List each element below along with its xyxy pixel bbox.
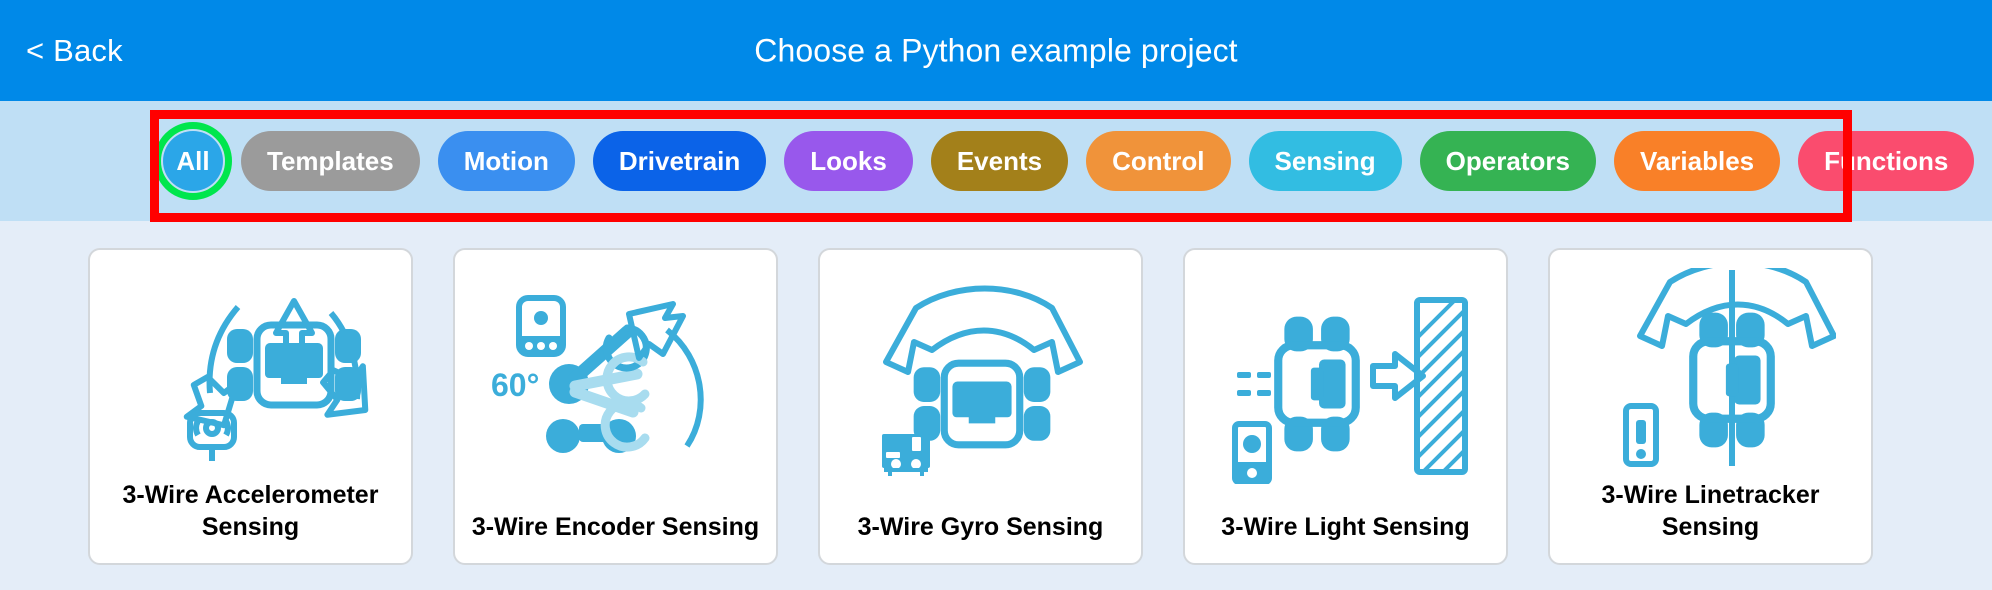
category-pill-label: Control <box>1112 146 1204 177</box>
category-pill-operators[interactable]: Operators <box>1420 131 1596 191</box>
category-pill-variables[interactable]: Variables <box>1614 131 1780 191</box>
category-pill-label: Operators <box>1446 146 1570 177</box>
category-pill-motion[interactable]: Motion <box>438 131 575 191</box>
project-card-title: 3-Wire Light Sensing <box>1185 511 1506 563</box>
category-pill-label: Sensing <box>1275 146 1376 177</box>
accelerometer-robot-icon <box>90 250 411 479</box>
light-sensor-robot-icon <box>1185 250 1506 511</box>
project-card-title: 3-Wire Accelerometer Sensing <box>90 479 411 563</box>
project-card[interactable]: 3-Wire Gyro Sensing <box>818 248 1143 565</box>
category-pill-sensing[interactable]: Sensing <box>1249 131 1402 191</box>
category-pill-label: Looks <box>810 146 887 177</box>
category-pill-label: Templates <box>267 146 394 177</box>
project-card-title: 3-Wire Gyro Sensing <box>820 511 1141 563</box>
category-pill-drivetrain[interactable]: Drivetrain <box>593 131 766 191</box>
app-header: < Back Choose a Python example project <box>0 0 1992 101</box>
category-pill-all[interactable]: All <box>163 131 223 191</box>
encoder-arm-icon: 60° <box>455 250 776 511</box>
category-pill-looks[interactable]: Looks <box>784 131 913 191</box>
project-card[interactable]: 3-Wire Linetracker Sensing <box>1548 248 1873 565</box>
encoder-angle-label: 60° <box>491 367 539 403</box>
project-grid-area: 3-Wire Accelerometer Sensing 60° <box>0 221 1992 590</box>
category-pill-label: Events <box>957 146 1042 177</box>
project-card-title: 3-Wire Encoder Sensing <box>455 511 776 563</box>
project-card[interactable]: 3-Wire Accelerometer Sensing <box>88 248 413 565</box>
category-pill-events[interactable]: Events <box>931 131 1068 191</box>
category-pill-label: All <box>176 146 209 177</box>
example-project-chooser: < Back Choose a Python example project A… <box>0 0 1992 590</box>
gyro-robot-icon <box>820 250 1141 511</box>
project-card[interactable]: 3-Wire Light Sensing <box>1183 248 1508 565</box>
category-pill-label: Drivetrain <box>619 146 740 177</box>
project-card[interactable]: 60° <box>453 248 778 565</box>
category-filter-bar: AllTemplatesMotionDrivetrainLooksEventsC… <box>0 101 1992 221</box>
category-pill-control[interactable]: Control <box>1086 131 1230 191</box>
category-pill-label: Functions <box>1824 146 1948 177</box>
category-pill-label: Variables <box>1640 146 1754 177</box>
page-title: Choose a Python example project <box>0 32 1992 69</box>
category-pill-templates[interactable]: Templates <box>241 131 420 191</box>
category-pill-row: AllTemplatesMotionDrivetrainLooksEventsC… <box>163 114 1974 208</box>
project-card-row: 3-Wire Accelerometer Sensing 60° <box>88 248 1873 565</box>
linetracker-robot-icon <box>1550 250 1871 479</box>
project-card-title: 3-Wire Linetracker Sensing <box>1550 479 1871 563</box>
category-pill-functions[interactable]: Functions <box>1798 131 1974 191</box>
category-pill-label: Motion <box>464 146 549 177</box>
